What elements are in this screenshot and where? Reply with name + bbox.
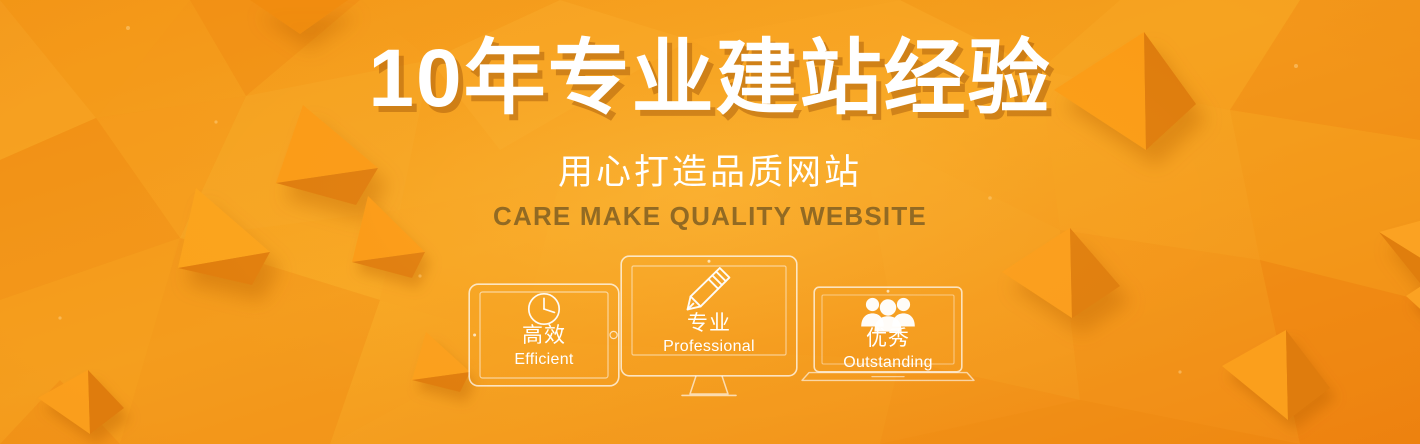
feature-card-efficient[interactable] <box>468 283 620 387</box>
clock-icon <box>518 289 570 329</box>
people-group-icon <box>858 293 918 333</box>
feature-card-outstanding[interactable] <box>800 286 976 390</box>
page-title: 10年专业建站经验 <box>0 38 1420 120</box>
pencil-icon <box>681 263 737 315</box>
promo-banner: 10年专业建站经验 用心打造品质网站 CARE MAKE QUALITY WEB… <box>0 0 1420 444</box>
feature-card-professional[interactable] <box>618 255 800 400</box>
subtitle-chinese: 用心打造品质网站 <box>0 155 1420 190</box>
subtitle-english: CARE MAKE QUALITY WEBSITE <box>0 203 1420 229</box>
